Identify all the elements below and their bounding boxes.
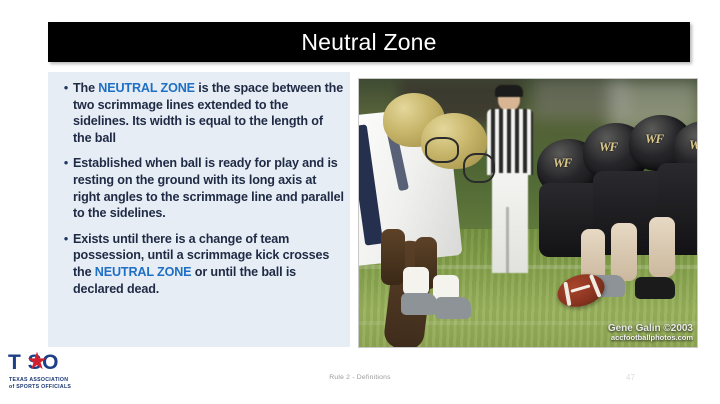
bullet-1-highlight: NEUTRAL ZONE	[98, 81, 195, 95]
referee-cap	[495, 85, 523, 97]
wf-logo-4: WF	[689, 137, 697, 153]
bullet-text-2: Established when ball is ready for play …	[73, 155, 344, 221]
page-number: 47	[626, 373, 635, 382]
referee-pants-seam	[506, 207, 509, 273]
wf-logo-3: WF	[645, 131, 663, 147]
referee-figure	[487, 87, 533, 292]
bullet-1-segment-0: The	[73, 81, 98, 95]
football-band-right	[589, 274, 602, 298]
bullet-marker-icon: •	[60, 155, 72, 172]
player-leg	[611, 223, 637, 281]
player-shoe	[401, 293, 437, 315]
slide-title-bar: Neutral Zone	[48, 22, 690, 62]
body-text-panel: • The NEUTRAL ZONE is the space between …	[48, 72, 350, 347]
photo-credit: Gene Galin ©2003 accfootballphotos.com	[608, 323, 693, 343]
bullet-marker-icon: •	[60, 80, 72, 97]
facemask-icon	[425, 137, 459, 163]
facemask-icon	[463, 153, 495, 183]
football-band-left	[563, 282, 571, 306]
scrimmage-photo: WF WF WF WF	[358, 78, 698, 348]
bullet-marker-icon: •	[60, 231, 72, 248]
player-sock	[403, 267, 429, 295]
star-icon: ★	[26, 351, 48, 373]
footer-rule-label: Rule 2 - Definitions	[0, 374, 720, 381]
bullet-3-highlight: NEUTRAL ZONE	[95, 265, 192, 279]
page-title: Neutral Zone	[301, 29, 436, 56]
taso-logo-subtitle-line-2: of SPORTS OFFICIALS	[9, 384, 71, 390]
bullet-text-3: Exists until there is a change of team p…	[73, 231, 344, 297]
player-shoe	[435, 297, 471, 319]
list-item: • Established when ball is ready for pla…	[54, 155, 344, 221]
slide-canvas: Neutral Zone • The NEUTRAL ZONE is the s…	[0, 0, 720, 404]
wf-logo-1: WF	[553, 155, 571, 171]
bullet-2-segment-0: Established when ball is ready for play …	[73, 156, 344, 220]
player-shoe	[635, 277, 675, 299]
wf-logo-2: WF	[599, 139, 617, 155]
player-leg	[649, 217, 675, 277]
photo-illustration: WF WF WF WF	[359, 79, 697, 347]
referee-white-pants	[492, 173, 528, 273]
list-item: • The NEUTRAL ZONE is the space between …	[54, 80, 344, 146]
photo-credit-site: accfootballphotos.com	[608, 334, 693, 343]
bullet-text-1: The NEUTRAL ZONE is the space between th…	[73, 80, 344, 146]
player-leg	[381, 229, 405, 285]
football-laces	[570, 284, 590, 292]
list-item: • Exists until there is a change of team…	[54, 231, 344, 297]
